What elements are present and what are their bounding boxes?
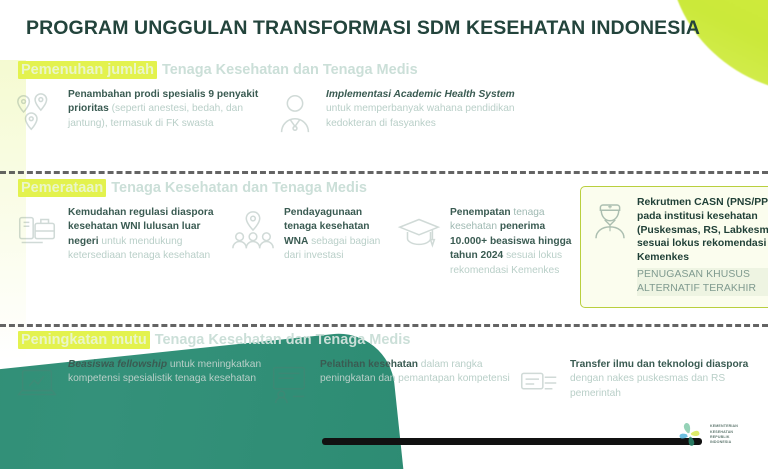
list-item-bold: Penempatan [450, 207, 511, 218]
list-item-text: Kemudahan regulasi diaspora kesehatan WN… [68, 206, 228, 264]
group-people-pin-icon [230, 208, 276, 254]
doctor-person-icon [272, 90, 318, 136]
nurse-health-worker-icon [589, 196, 631, 242]
section-1-heading-rest: Tenaga Kesehatan dan Tenaga Medis [162, 62, 418, 78]
section-3-heading-rest: Tenaga Kesehatan dan Tenaga Medis [155, 332, 411, 348]
list-item: Penambahan prodi spesialis 9 penyakit pr… [14, 88, 272, 136]
list-item-bold: Transfer ilmu dan teknologi diaspora [570, 359, 748, 370]
section-1-items: Penambahan prodi spesialis 9 penyakit pr… [0, 88, 768, 136]
list-item: Pendayagunaan tenaga kesehatan WNA sebag… [230, 206, 396, 278]
training-board-icon [266, 360, 312, 406]
list-item-text: Implementasi Academic Health System untu… [326, 88, 526, 131]
list-item: Beasiswa fellowship untuk meningkatkan k… [14, 358, 266, 406]
callout-main: Rekrutmen CASN (PNS/PPPK) pada institusi… [637, 197, 768, 263]
section-3-heading: Peningkatan mutuTenaga Kesehatan dan Ten… [18, 332, 410, 348]
kemenkes-logo-mark [672, 418, 706, 452]
section-3-heading-highlight: Peningkatan mutu [18, 331, 150, 349]
page-title: PROGRAM UNGGULAN TRANSFORMASI SDM KESEHA… [26, 17, 716, 40]
infographic-slide: PROGRAM UNGGULAN TRANSFORMASI SDM KESEHA… [0, 0, 768, 469]
list-item-text: Pelatihan kesehatan dalam rangka peningk… [320, 358, 516, 387]
decor-bottom-bar [322, 438, 702, 445]
section-2-heading-highlight: Pemerataan [18, 179, 106, 197]
section-1-heading: Pemenuhan jumlahTenaga Kesehatan dan Ten… [18, 62, 418, 78]
list-item: Pelatihan kesehatan dalam rangka peningk… [266, 358, 516, 406]
list-item-bold: Pelatihan kesehatan [320, 359, 418, 370]
list-item-bold-italic: Implementasi Academic Health System [326, 89, 515, 100]
list-item-bold-italic: Beasiswa fellowship [68, 359, 167, 370]
section-divider-2 [0, 324, 768, 327]
kemenkes-logo: KEMENTERIAN KESEHATAN REPUBLIK INDONESIA [672, 415, 756, 455]
callout-text: Rekrutmen CASN (PNS/PPPK) pada institusi… [637, 196, 768, 296]
knowledge-transfer-icon [516, 360, 562, 406]
list-item-text: Penempatan tenaga kesehatan penerima 10.… [450, 206, 584, 278]
graduation-cap-icon [396, 208, 442, 254]
callout-sub: PENUGASAN KHUSUS ALTERNATIF TERAKHIR [637, 268, 768, 296]
list-item: Transfer ilmu dan teknologi diaspora den… [516, 358, 766, 406]
section-3-items: Beasiswa fellowship untuk meningkatkan k… [0, 358, 768, 406]
list-item-text: Transfer ilmu dan teknologi diaspora den… [570, 358, 766, 401]
passport-suitcase-icon [14, 208, 60, 254]
section-divider-1 [0, 171, 768, 174]
section-peningkatan-mutu: Peningkatan mutuTenaga Kesehatan dan Ten… [0, 332, 768, 422]
list-item-rest: untuk memperbanyak wahana pendidikan ked… [326, 103, 515, 128]
section-pemenuhan-jumlah: Pemenuhan jumlahTenaga Kesehatan dan Ten… [0, 62, 768, 165]
list-item: Implementasi Academic Health System untu… [272, 88, 532, 136]
list-item: Penempatan tenaga kesehatan penerima 10.… [396, 206, 584, 278]
map-pin-locations-icon [14, 90, 60, 136]
list-item-text: Beasiswa fellowship untuk meningkatkan k… [68, 358, 266, 387]
section-2-heading-rest: Tenaga Kesehatan dan Tenaga Medis [111, 180, 367, 196]
callout-rekrutmen-casn: Rekrutmen CASN (PNS/PPPK) pada institusi… [580, 186, 768, 308]
section-1-heading-highlight: Pemenuhan jumlah [18, 61, 157, 79]
list-item: Kemudahan regulasi diaspora kesehatan WN… [14, 206, 230, 278]
list-item-text: Penambahan prodi spesialis 9 penyakit pr… [68, 88, 268, 131]
list-item-rest: dengan nakes puskesmas dan RS pemerintah [570, 373, 725, 398]
section-2-heading: PemerataanTenaga Kesehatan dan Tenaga Me… [18, 180, 367, 196]
laptop-elearning-icon [14, 360, 60, 406]
kemenkes-logo-text: KEMENTERIAN KESEHATAN REPUBLIK INDONESIA [710, 424, 738, 446]
list-item-text: Pendayagunaan tenaga kesehatan WNA sebag… [284, 206, 396, 264]
